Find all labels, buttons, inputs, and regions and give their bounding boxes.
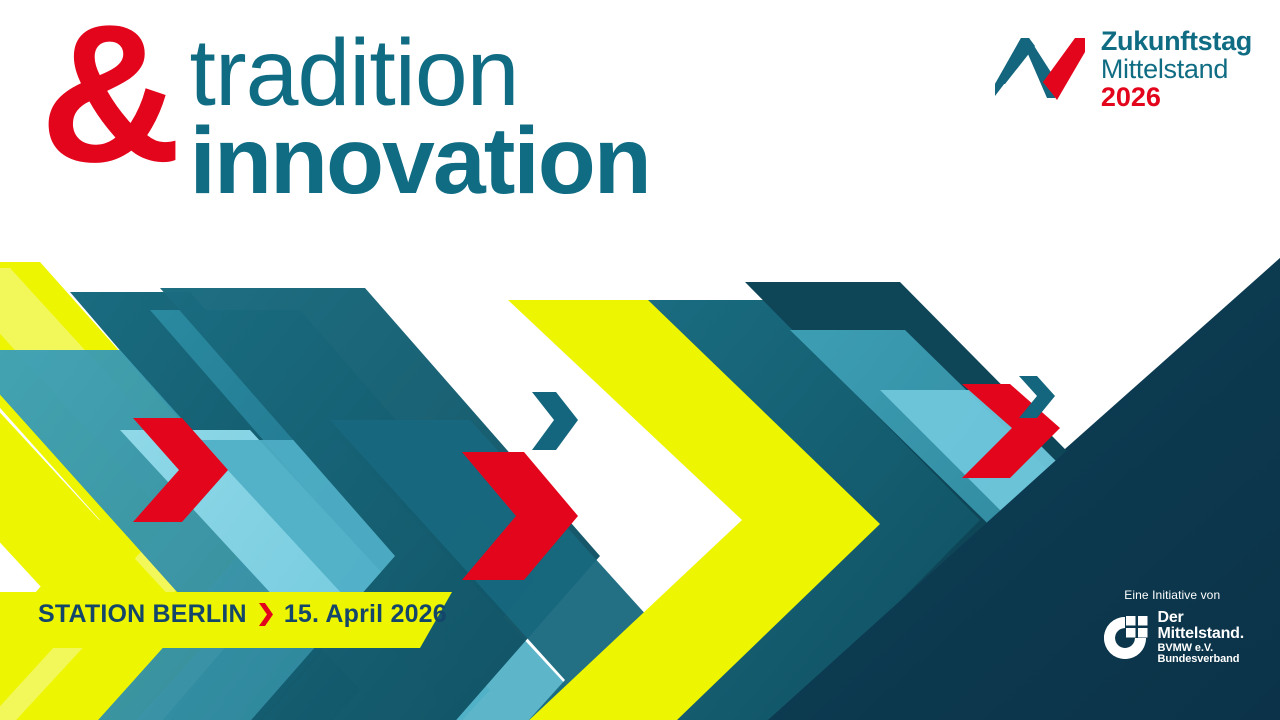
bvmw-line-mittelstand: Mittelstand. xyxy=(1158,626,1245,642)
zukunftstag-logo: Zukunftstag Mittelstand 2026 xyxy=(995,28,1252,112)
bvmw-circle-grid-icon xyxy=(1101,613,1151,663)
logo-line-zukunftstag: Zukunftstag xyxy=(1101,28,1252,56)
chevron-teal-tiny-center xyxy=(532,392,578,450)
chevron-right-icon xyxy=(257,602,274,627)
initiative-block: Eine Initiative von Der Mittelstand. BVM… xyxy=(1101,588,1245,665)
bvmw-logo: Der Mittelstand. BVMW e.V. Bundesverband xyxy=(1101,610,1245,665)
headline-words: tradition innovation xyxy=(190,30,650,206)
event-info: STATION BERLIN 15. April 2026 xyxy=(38,600,447,629)
bvmw-wordmark: Der Mittelstand. BVMW e.V. Bundesverband xyxy=(1158,610,1245,665)
zigzag-mark-icon xyxy=(995,32,1087,100)
bvmw-line-der: Der xyxy=(1158,610,1245,626)
event-banner: & tradition innovation Zukunftstag Mitte… xyxy=(0,0,1280,720)
headline-line-innovation: innovation xyxy=(190,116,650,206)
event-date: 15. April 2026 xyxy=(284,600,447,629)
headline-line-tradition: tradition xyxy=(190,30,650,116)
headline: & tradition innovation xyxy=(40,18,650,206)
logo-line-year: 2026 xyxy=(1101,84,1252,112)
bvmw-line-bundesverband: Bundesverband xyxy=(1158,654,1245,665)
initiative-kicker: Eine Initiative von xyxy=(1124,588,1220,602)
ampersand-glyph: & xyxy=(40,10,176,178)
event-venue: STATION BERLIN xyxy=(38,600,247,629)
logo-line-mittelstand: Mittelstand xyxy=(1101,56,1252,84)
zukunftstag-wordmark: Zukunftstag Mittelstand 2026 xyxy=(1101,28,1252,112)
